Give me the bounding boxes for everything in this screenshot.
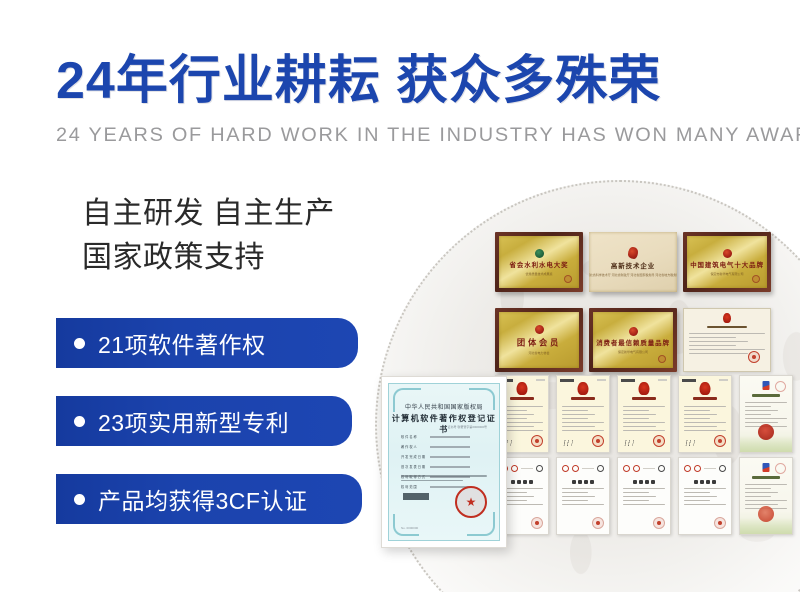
certificate-registration-4 — [678, 457, 732, 535]
plaque-award-4: 团体会员 河北省电力协会 — [495, 308, 583, 372]
cert-headline — [632, 397, 656, 400]
highlight-item-3cf-certification[interactable]: 产品均获得3CF认证 — [56, 474, 362, 524]
hero-cert-field: 开发完成日期 — [401, 454, 487, 459]
cert-name-blocks — [694, 480, 716, 484]
hero-cert-field: 软件名称 — [401, 434, 487, 439]
field-value — [430, 466, 487, 468]
cert-text-lines — [684, 406, 726, 434]
field-label: 首次发表日期 — [401, 464, 427, 469]
field-value — [430, 446, 487, 448]
red-emblem-icon — [700, 382, 711, 395]
cert-text-lines — [684, 488, 726, 508]
plaque-award-3: 中国建筑电气十大品牌 保定市新华电气有限公司 — [683, 232, 771, 292]
cert-header-bar — [621, 379, 635, 382]
red-round-seal-icon — [714, 435, 726, 447]
certificate-honor-right-2 — [739, 457, 793, 535]
plaque-seal-icon — [564, 275, 572, 283]
plaque-subtitle: 保定市新华电气有限公司 — [710, 272, 743, 276]
plaque-subtitle: 保定新华电气有限公司 — [618, 350, 648, 354]
plaque-title: 中国建筑电气十大品牌 — [690, 260, 764, 269]
oval-watermark-icon — [775, 463, 786, 474]
plaque-subtitle: 河北省电力协会 — [528, 351, 549, 355]
honors-banner-page: 省会水利水电大奖 优秀质量技术成果奖 高新技术企业 河北省科学技术厅 河北省财政… — [0, 0, 800, 592]
hero-cert-field: 首次发表日期 — [401, 464, 487, 469]
red-round-seal-icon — [653, 517, 665, 529]
bullet-dot-icon — [74, 494, 85, 505]
highlight-item-software-copyrights[interactable]: 21项软件著作权 — [56, 318, 358, 368]
hero-cert-title: 计算机软件著作权登记证书 — [389, 413, 499, 435]
red-big-seal-icon — [758, 424, 774, 440]
signature-mark — [685, 440, 701, 446]
cert-headline — [707, 326, 747, 328]
plaque-subtitle: 河北省科学技术厅 河北省财政厅 河北省国家税务局 河北省地方税务局 — [589, 273, 677, 277]
plaque-title: 消费者最信赖质量品牌 — [596, 338, 670, 347]
plaque-plate: 团体会员 河北省电力协会 — [499, 312, 579, 368]
cert-headline — [510, 397, 534, 400]
hero-cert-field: 著作权人 — [401, 444, 487, 449]
red-round-seal-icon — [592, 435, 604, 447]
certificate-registration-3 — [617, 457, 671, 535]
page-subtitle-english: 24 YEARS OF HARD WORK IN THE INDUSTRY HA… — [56, 124, 800, 147]
red-round-seal-icon — [653, 435, 665, 447]
page-title-chinese: 24年行业耕耘 获众多殊荣 — [56, 55, 661, 107]
flame-emblem-icon — [628, 247, 638, 259]
red-big-seal-icon — [758, 506, 774, 522]
red-emblem-icon — [578, 382, 589, 395]
certificate-patent-2 — [556, 375, 610, 453]
highlights-list: 21项软件著作权 23项实用新型专利 产品均获得3CF认证 — [56, 318, 362, 552]
emblem-icon — [723, 313, 731, 323]
highlight-label: 产品均获得3CF认证 — [98, 482, 307, 516]
hero-cert-stamp-block — [403, 493, 429, 500]
field-label: 著作权人 — [401, 444, 427, 449]
hero-cert-inner-border: 中华人民共和国国家版权局 计算机软件著作权登记证书 证书号 软著登字第00000… — [388, 383, 500, 541]
cert-header-code — [658, 379, 667, 381]
flag-icon — [763, 381, 770, 390]
highlight-item-utility-patents[interactable]: 23项实用新型专利 — [56, 396, 352, 446]
highlight-label: 21项软件著作权 — [98, 326, 266, 360]
cert-text-lines — [623, 406, 665, 434]
intro-line-1: 自主研发 自主生产 — [82, 192, 335, 236]
flag-icon — [763, 463, 770, 472]
national-emblem-icon — [723, 249, 732, 258]
plaque-title: 省会水利水电大奖 — [510, 260, 569, 269]
red-round-seal-icon — [531, 517, 543, 529]
cert-headline — [752, 476, 780, 479]
intro-line-2: 国家政策支持 — [82, 236, 335, 280]
plaque-plate: 高新技术企业 河北省科学技术厅 河北省财政厅 河北省国家税务局 河北省地方税务局 — [589, 232, 677, 292]
cert-header-code — [597, 379, 606, 381]
intro-text-block: 自主研发 自主生产 国家政策支持 — [82, 192, 335, 279]
certificate-honor-right-1 — [739, 375, 793, 453]
cert-header-bar — [560, 379, 574, 382]
hero-cert-serial: 证书号 软著登字第0000000号 — [447, 425, 487, 429]
corner-ornament-icon — [393, 514, 419, 536]
highlight-label: 23项实用新型专利 — [98, 404, 289, 438]
cert-text-lines — [623, 488, 665, 508]
plaque-title: 团体会员 — [517, 337, 561, 349]
cert-name-blocks — [633, 480, 655, 484]
hero-cert-field-list: 软件名称 著作权人 开发完成日期 首次发表日期 权利取得方式 权利范围 — [401, 434, 487, 494]
certificate-patent-4 — [678, 375, 732, 453]
field-label: 开发完成日期 — [401, 454, 427, 459]
plaque-award-6 — [683, 308, 771, 372]
cert-text-lines — [562, 488, 604, 508]
hero-cert-footer-number: No. 0000000 — [401, 526, 418, 530]
official-red-seal-icon: ★ — [455, 486, 487, 518]
plaque-award-1: 省会水利水电大奖 优秀质量技术成果奖 — [495, 232, 583, 292]
oval-watermark-icon — [775, 381, 786, 392]
cert-name-blocks — [511, 480, 533, 484]
certificate-patent-3 — [617, 375, 671, 453]
hero-cert-paragraph — [401, 475, 487, 484]
field-value — [430, 456, 487, 458]
signature-mark — [624, 440, 640, 446]
signature-mark — [563, 440, 579, 446]
field-value — [430, 436, 487, 438]
cert-header-bar — [682, 379, 696, 382]
hero-software-copyright-certificate: 中华人民共和国国家版权局 计算机软件著作权登记证书 证书号 软著登字第00000… — [381, 376, 507, 548]
cert-header-code — [719, 379, 728, 381]
plaque-plate: 消费者最信赖质量品牌 保定新华电气有限公司 — [593, 312, 673, 368]
cert-logo-row — [623, 465, 665, 472]
red-round-seal-icon — [531, 435, 543, 447]
plaque-seal-icon — [658, 355, 666, 363]
bullet-dot-icon — [74, 338, 85, 349]
cert-logo-row — [562, 465, 604, 472]
plaque-seal-icon — [752, 275, 760, 283]
cert-headline — [752, 394, 780, 397]
cert-logo-row — [684, 465, 726, 472]
cert-text-lines — [501, 406, 543, 434]
plaque-title: 高新技术企业 — [611, 261, 655, 270]
plaque-plate: 省会水利水电大奖 优秀质量技术成果奖 — [499, 236, 579, 288]
red-round-seal-icon — [748, 351, 760, 363]
red-emblem-icon — [517, 382, 528, 395]
hero-cert-issuer: 中华人民共和国国家版权局 — [389, 402, 499, 411]
red-round-seal-icon — [592, 517, 604, 529]
plaque-subtitle: 优秀质量技术成果奖 — [525, 272, 552, 276]
seal-emblem-icon — [535, 249, 544, 258]
bullet-dot-icon — [74, 416, 85, 427]
cert-headline — [693, 397, 717, 400]
cert-header-code — [536, 379, 545, 381]
field-label: 软件名称 — [401, 434, 427, 439]
cert-text-lines — [562, 406, 604, 434]
red-emblem-icon — [639, 382, 650, 395]
plaque-award-2: 高新技术企业 河北省科学技术厅 河北省财政厅 河北省国家税务局 河北省地方税务局 — [589, 232, 677, 292]
national-emblem-icon — [629, 327, 638, 336]
cert-headline — [571, 397, 595, 400]
plaque-award-5: 消费者最信赖质量品牌 保定新华电气有限公司 — [589, 308, 677, 372]
star-glyph: ★ — [466, 496, 477, 508]
plaque-plate: 中国建筑电气十大品牌 保定市新华电气有限公司 — [687, 236, 767, 288]
cert-logo-row — [501, 465, 543, 472]
field-label: 权利范围 — [401, 484, 427, 489]
red-round-seal-icon — [714, 517, 726, 529]
cert-text-lines — [501, 488, 543, 508]
certificate-registration-2 — [556, 457, 610, 535]
cert-name-blocks — [572, 480, 594, 484]
